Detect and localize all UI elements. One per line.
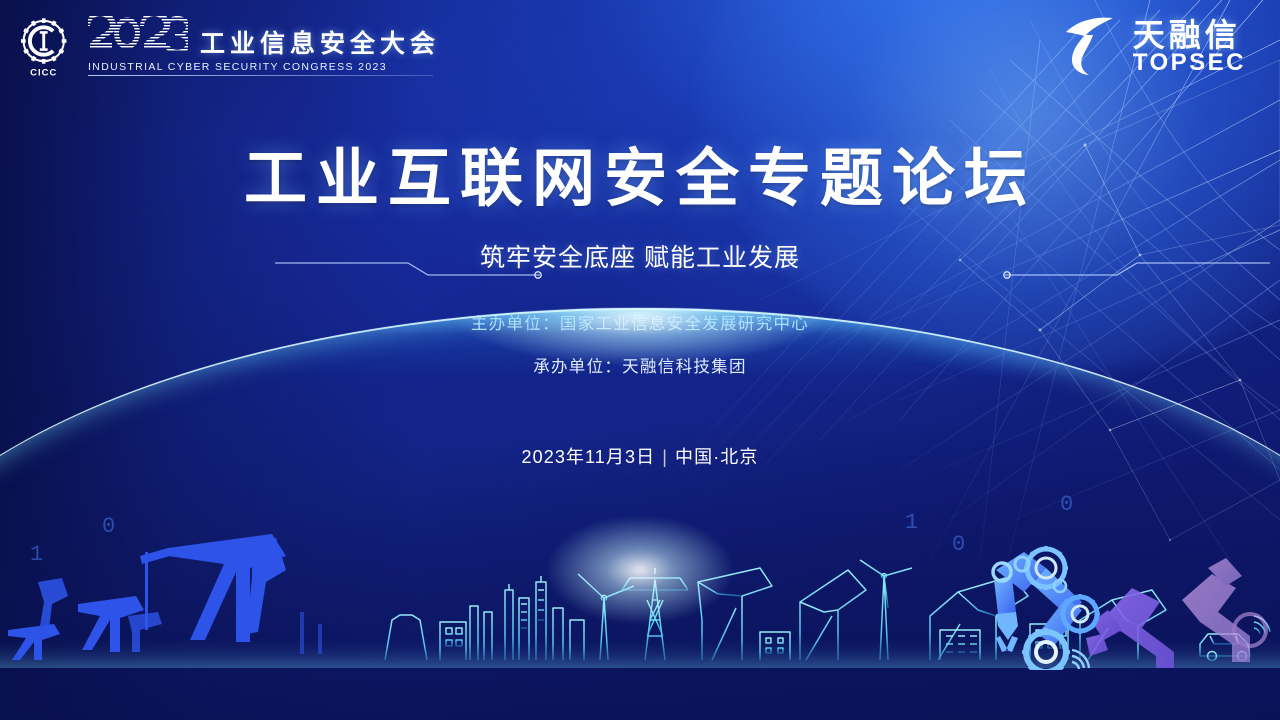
organizers-block: 主办单位：国家工业信息安全发展研究中心 承办单位：天融信科技集团 xyxy=(0,316,1280,375)
industrial-city-skyline-outline xyxy=(0,524,1280,664)
cicc-abbr-label: CICC xyxy=(30,66,57,77)
topsec-logo-block: 天融信 TOPSEC xyxy=(1063,14,1246,80)
congress-title-en: INDUSTRIAL CYBER SECURITY CONGRESS 2023 xyxy=(88,62,433,73)
topsec-name-cn: 天融信 xyxy=(1133,19,1241,53)
co-organizer: 承办单位：天融信科技集团 xyxy=(0,359,1280,376)
svg-text:1: 1 xyxy=(30,542,43,567)
robotic-arms-with-gears xyxy=(950,510,1280,670)
host-organization: 主办单位：国家工业信息安全发展研究中心 xyxy=(0,316,1280,333)
congress-title-wrap: 工业信息安全大会 INDUSTRIAL CYBER SECURITY CONGR… xyxy=(88,16,440,79)
svg-text:1: 1 xyxy=(905,510,918,535)
svg-text:0: 0 xyxy=(102,514,115,539)
forum-title: 工业互联网安全专题论坛 xyxy=(0,148,1280,211)
bottom-artwork xyxy=(0,460,1280,720)
congress-title-cn: 工业信息安全大会 xyxy=(200,32,440,57)
event-date: 2023年11月3日 xyxy=(521,447,655,467)
cicc-brand-block: CICC xyxy=(18,16,440,78)
binary-digits-decoration: 1 0 1 0 0 xyxy=(0,480,1280,640)
year-2023-logotype xyxy=(88,16,188,52)
svg-text:0: 0 xyxy=(1060,492,1073,517)
cicc-gear-logo-icon: CICC xyxy=(18,16,78,78)
conference-poster: 1 0 1 0 0 xyxy=(0,0,1280,720)
topsec-swoosh-mark-icon xyxy=(1063,14,1125,80)
header-underline xyxy=(88,75,433,76)
topsec-name-en: TOPSEC xyxy=(1133,51,1246,75)
svg-text:0: 0 xyxy=(952,532,965,557)
oil-pumpjack-silhouettes xyxy=(0,512,400,662)
forum-slogan: 筑牢安全底座 赋能工业发展 xyxy=(480,238,800,274)
date-location-line: 2023年11月3日|中国·北京 xyxy=(0,443,1280,469)
slogan-row: 筑牢安全底座 赋能工业发展 xyxy=(0,238,1280,274)
date-separator: | xyxy=(662,447,668,467)
poster-header: CICC xyxy=(0,0,1280,96)
horizon-center-burst xyxy=(545,515,735,625)
event-location: 中国·北京 xyxy=(675,447,759,467)
